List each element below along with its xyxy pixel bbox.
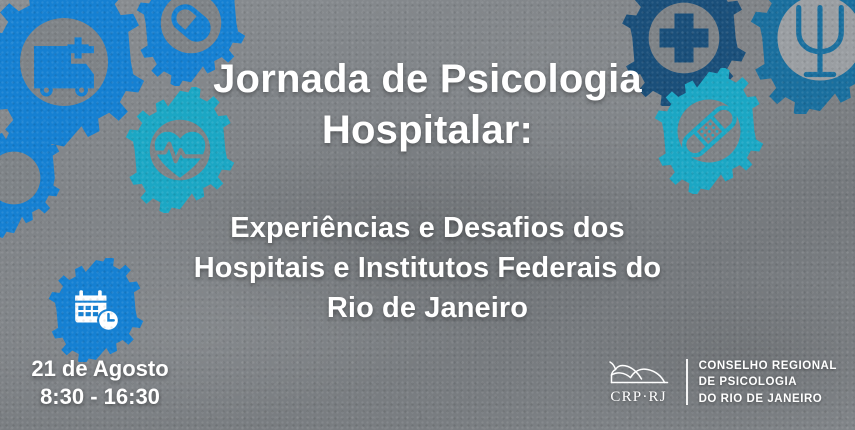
logo-divider [686,359,688,405]
logo-line-1: CONSELHO REGIONAL [699,358,837,374]
event-poster: Jornada de Psicologia Hospitalar: Experi… [0,0,855,430]
event-time: 8:30 - 16:30 [0,383,200,411]
event-datetime: 21 de Agosto 8:30 - 16:30 [0,355,200,411]
logo-acronym: CRP·RJ [610,389,666,406]
logo-mark: CRP·RJ [603,358,675,406]
subtitle-line-2: Hospitais e Institutos Federais do [0,248,855,288]
subtitle-line-3: Rio de Janeiro [0,288,855,328]
page-subtitle: Experiências e Desafios dos Hospitais e … [0,208,855,328]
logo-text: CONSELHO REGIONAL DE PSICOLOGIA DO RIO D… [699,358,837,407]
open-book-bird-icon [606,358,672,388]
event-date: 21 de Agosto [0,355,200,383]
title-line-1: Jornada de Psicologia [0,54,855,105]
crp-rj-logo: CRP·RJ CONSELHO REGIONAL DE PSICOLOGIA D… [603,358,837,407]
logo-line-2: DE PSICOLOGIA [699,374,837,390]
page-title: Jornada de Psicologia Hospitalar: [0,54,855,156]
title-line-2: Hospitalar: [0,105,855,156]
logo-line-3: DO RIO DE JANEIRO [699,391,837,407]
subtitle-line-1: Experiências e Desafios dos [0,208,855,248]
